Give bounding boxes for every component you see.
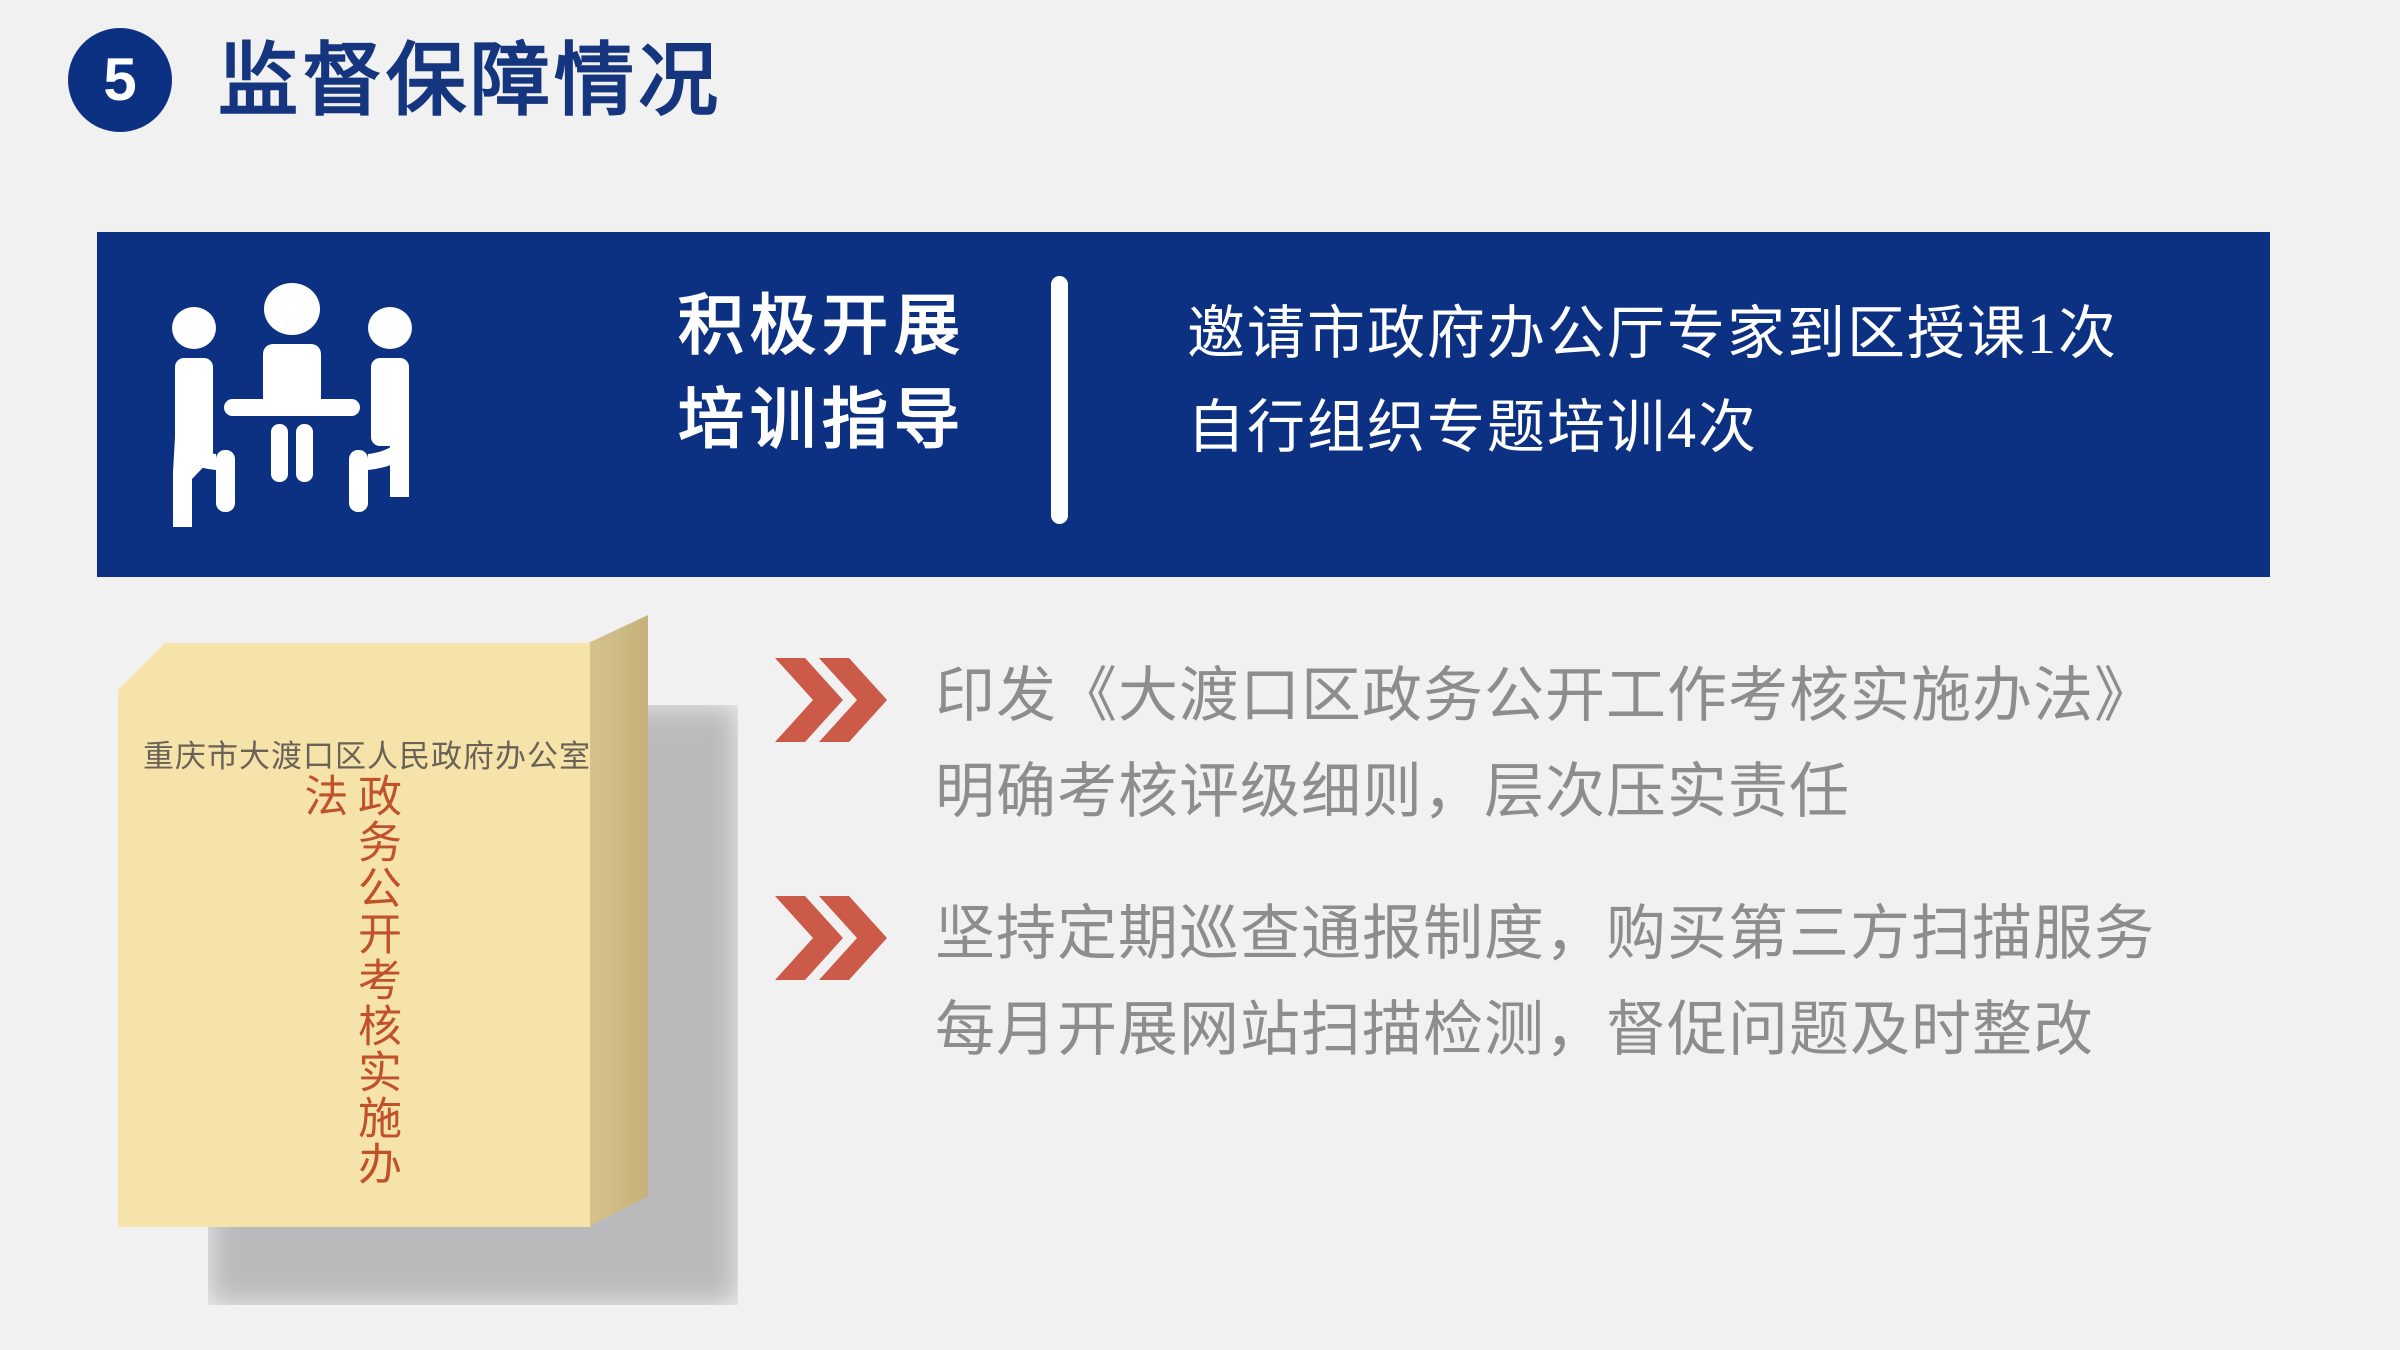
book-spine-edge: [588, 615, 648, 1227]
list-item: 印发《大渡口区政务公开工作考核实施办法》 明确考核评级细则，层次压实责任: [775, 648, 2335, 840]
banner-detail-line-1: 邀请市政府办公厅专家到区授课1次: [1187, 287, 2118, 381]
measure-1-line-1: 印发《大渡口区政务公开工作考核实施办法》: [935, 648, 2335, 744]
measure-text-1: 印发《大渡口区政务公开工作考核实施办法》 明确考核评级细则，层次压实责任: [935, 648, 2335, 840]
banner-vertical-divider: [1051, 276, 1068, 524]
policy-document-book: 重庆市大渡口区人民政府办公室 政务公开考核实施办法: [118, 615, 663, 1227]
measure-1-line-2: 明确考核评级细则，层次压实责任: [935, 744, 2335, 840]
measure-text-2: 坚持定期巡查通报制度，购买第三方扫描服务 每月开展网站扫描检测，督促问题及时整改: [935, 886, 2335, 1078]
banner-heading-line-1: 积极开展: [678, 290, 966, 363]
book-front-cover: 重庆市大渡口区人民政府办公室 政务公开考核实施办法: [118, 643, 590, 1227]
list-item: 坚持定期巡查通报制度，购买第三方扫描服务 每月开展网站扫描检测，督促问题及时整改: [775, 886, 2335, 1078]
slide-header: 5 监督保障情况: [0, 0, 2400, 170]
measure-2-line-2: 每月开展网站扫描检测，督促问题及时整改: [935, 982, 2335, 1078]
training-banner: 积极开展 培训指导 邀请市政府办公厅专家到区授课1次 自行组织专题培训4次: [97, 232, 2270, 577]
book-organization-text: 重庆市大渡口区人民政府办公室: [143, 731, 573, 776]
banner-heading-line-2: 培训指导: [678, 384, 966, 457]
banner-detail-line-2: 自行组织专题培训4次: [1187, 381, 2118, 475]
page-title: 监督保障情况: [218, 30, 722, 134]
double-chevron-icon: [775, 896, 887, 980]
banner-heading: 积极开展 培训指导: [642, 280, 1002, 467]
book-title-text: 政务公开考核实施办法: [340, 773, 402, 1193]
section-number-text: 5: [103, 50, 136, 110]
section-number-badge: 5: [68, 28, 172, 132]
measure-2-line-1: 坚持定期巡查通报制度，购买第三方扫描服务: [935, 886, 2335, 982]
meeting-training-icon: [162, 282, 422, 527]
measures-list: 印发《大渡口区政务公开工作考核实施办法》 明确考核评级细则，层次压实责任 坚持定…: [775, 648, 2335, 1124]
banner-detail-list: 邀请市政府办公厅专家到区授课1次 自行组织专题培训4次: [1187, 287, 2118, 475]
double-chevron-icon: [775, 658, 887, 742]
